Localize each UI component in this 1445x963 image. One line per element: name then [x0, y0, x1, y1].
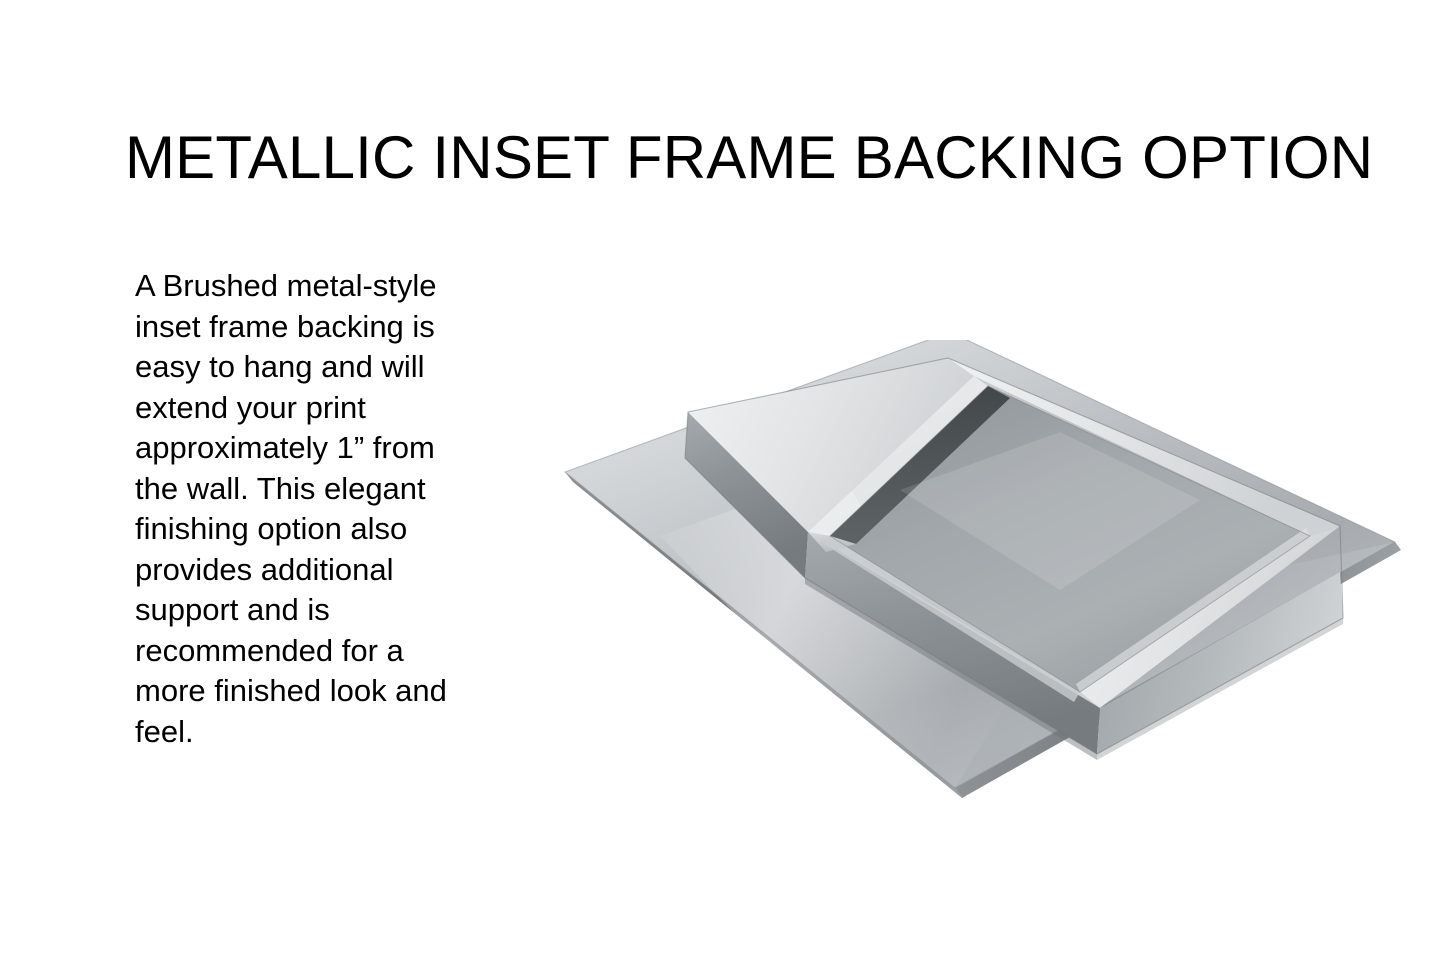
- slide-canvas: METALLIC INSET FRAME BACKING OPTION A Br…: [0, 0, 1445, 963]
- page-title: METALLIC INSET FRAME BACKING OPTION: [125, 126, 1325, 191]
- product-image: [540, 340, 1420, 810]
- description-paragraph: A Brushed metal-style inset frame backin…: [135, 266, 480, 752]
- inset-frame-box: [685, 358, 1343, 754]
- metallic-inset-frame-illustration: [540, 340, 1420, 810]
